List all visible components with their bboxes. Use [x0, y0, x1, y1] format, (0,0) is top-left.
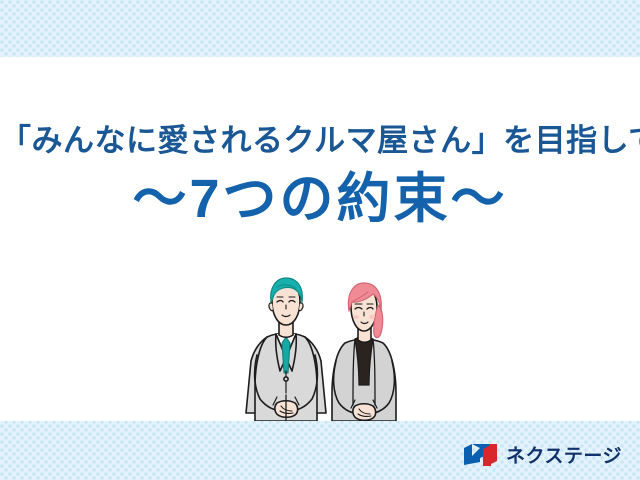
content-panel: 「みんなに愛されるクルマ屋さん」を目指して 〜7つの約束〜: [0, 57, 640, 421]
female-staff-figure: [332, 283, 396, 421]
headline-primary: 「みんなに愛されるクルマ屋さん」を目指して: [0, 124, 640, 159]
brand-logo[interactable]: ネクステージ: [463, 441, 622, 468]
male-staff-figure: [246, 278, 326, 421]
nextage-n-mark: [463, 442, 499, 468]
brand-name-label: ネクステージ: [506, 441, 622, 468]
slide-canvas: 「みんなに愛されるクルマ屋さん」を目指して 〜7つの約束〜: [0, 0, 640, 480]
headline-group: 「みんなに愛されるクルマ屋さん」を目指して 〜7つの約束〜: [0, 57, 640, 229]
staff-illustration: [243, 275, 411, 421]
headline-secondary: 〜7つの約束〜: [0, 169, 640, 229]
